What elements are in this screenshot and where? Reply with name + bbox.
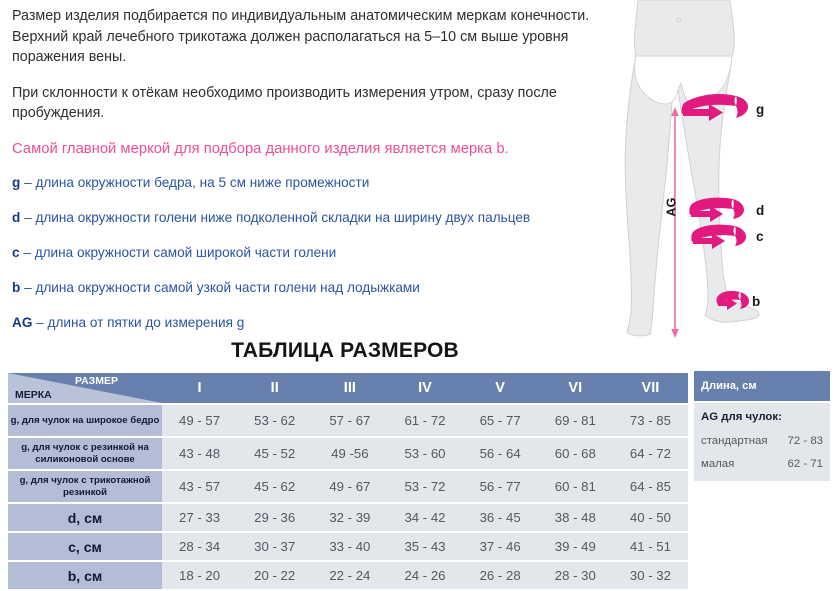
cell-r4-c2: 33 - 40 [312,533,387,560]
highlight-note: Самой главной меркой для подбора данного… [12,139,608,160]
definition-key-ag: AG [12,315,32,330]
cell-r5-c3: 24 - 26 [387,562,462,589]
cell-r4-c6: 41 - 51 [613,533,688,560]
figure-label-b: b [752,294,760,309]
cell-r5-c1: 20 - 22 [237,562,312,589]
row-label-c: c, см [8,533,162,560]
column-header-3: III [312,373,387,403]
column-header-5: V [463,373,538,403]
cell-r4-c5: 39 - 49 [538,533,613,560]
column-header-1: I [162,373,237,403]
cell-r1-c2: 49 -56 [312,438,387,469]
intro-paragraph-1: Размер изделия подбирается по индивидуал… [12,6,608,68]
definition-text-ag: длина от пятки до измерения g [48,315,245,330]
cell-r0-c2: 57 - 67 [312,405,387,436]
definition-item-d: d – длина окружности голени ниже подколе… [12,209,608,227]
definition-dash-ag: – [32,315,47,330]
cell-r2-c5: 60 - 81 [538,471,613,502]
definition-dash-b: – [20,280,35,295]
cell-r5-c6: 30 - 32 [613,562,688,589]
length-row-small: малая 62 - 71 [701,458,823,470]
ag-measure-arrow [671,107,679,338]
intro-paragraph-2: При склонности к отёкам необходимо произ… [12,83,608,124]
measurement-definitions-list: g – длина окружности бедра, на 5 см ниже… [12,174,608,332]
definition-item-c: c – длина окружности самой широкой части… [12,244,608,262]
cell-r1-c4: 56 - 64 [463,438,538,469]
cell-r1-c3: 53 - 60 [387,438,462,469]
body-silhouette [625,0,759,336]
length-row-standard: стандартная 72 - 83 [701,435,823,447]
length-row-small-value: 62 - 71 [788,458,823,470]
table-title: ТАБЛИЦА РАЗМЕРОВ [0,339,690,363]
size-table-head: РАЗМЕР МЕРКА I II III IV V VI VII [8,373,688,403]
table-row: g, для чулок с резинкой на силиконовой о… [8,438,688,469]
definition-text-d: длина окружности голени ниже подколенной… [35,210,530,225]
cell-r4-c4: 37 - 46 [463,533,538,560]
cell-r3-c1: 29 - 36 [237,504,312,531]
cell-r2-c6: 64 - 85 [613,471,688,502]
length-panel-title: AG для чулок: [701,411,823,423]
size-table: РАЗМЕР МЕРКА I II III IV V VI VII g, для… [8,371,688,591]
figure-label-ag: AG [665,197,679,216]
definition-item-ag: AG – длина от пятки до измерения g [12,314,608,332]
definition-text-b: длина окружности самой узкой части голен… [35,280,419,295]
table-row: b, см 18 - 20 20 - 22 22 - 24 24 - 26 26… [8,562,688,589]
table-corner-cell: РАЗМЕР МЕРКА [8,373,162,403]
row-label-b: b, см [8,562,162,589]
definition-text-c: длина окружности самой широкой части гол… [35,245,337,260]
column-header-2: II [237,373,312,403]
table-row: d, см 27 - 33 29 - 36 32 - 39 34 - 42 36… [8,504,688,531]
length-panel-body: AG для чулок: стандартная 72 - 83 малая … [694,403,830,481]
definition-key-c: c [12,245,20,260]
cell-r5-c0: 18 - 20 [162,562,237,589]
leg-measurement-diagram: g d c b AG [604,0,836,345]
cell-r4-c0: 28 - 34 [162,533,237,560]
table-row: c, см 28 - 34 30 - 37 33 - 40 35 - 43 37… [8,533,688,560]
cell-r3-c6: 40 - 50 [613,504,688,531]
figure-label-g: g [756,102,764,117]
cell-r5-c4: 26 - 28 [463,562,538,589]
definition-dash-g: – [20,175,35,190]
cell-r3-c2: 32 - 39 [312,504,387,531]
size-table-body: g, для чулок на широкое бедро 49 - 57 53… [8,405,688,589]
row-label-d: d, см [8,504,162,531]
table-row: g, для чулок с трикотажной резинкой 43 -… [8,471,688,502]
figure-label-c: c [756,229,764,244]
cell-r0-c5: 69 - 81 [538,405,613,436]
definition-item-g: g – длина окружности бедра, на 5 см ниже… [12,174,608,192]
cell-r3-c4: 36 - 45 [463,504,538,531]
column-header-6: VI [538,373,613,403]
cell-r0-c6: 73 - 85 [613,405,688,436]
instructions-panel: Размер изделия подбирается по индивидуал… [12,6,608,349]
cell-r2-c4: 56 - 77 [463,471,538,502]
cell-r1-c5: 60 - 68 [538,438,613,469]
cell-r4-c1: 30 - 37 [237,533,312,560]
cell-r0-c1: 53 - 62 [237,405,312,436]
cell-r2-c3: 53 - 72 [387,471,462,502]
cell-r2-c1: 45 - 62 [237,471,312,502]
column-header-7: VII [613,373,688,403]
length-panel-header: Длина, см [694,371,830,401]
torso-shape [634,0,734,56]
definition-text-g: длина окружности бедра, на 5 см ниже про… [35,175,369,190]
cell-r1-c0: 43 - 48 [162,438,237,469]
cell-r5-c2: 22 - 24 [312,562,387,589]
cell-r3-c3: 34 - 42 [387,504,462,531]
row-label-g-knit-band: g, для чулок с трикотажной резинкой [8,471,162,502]
column-header-4: IV [387,373,462,403]
definition-item-b: b – длина окружности самой узкой части г… [12,279,608,297]
length-row-standard-value: 72 - 83 [788,435,823,447]
cell-r0-c3: 61 - 72 [387,405,462,436]
cell-r1-c6: 64 - 72 [613,438,688,469]
length-row-standard-name: стандартная [701,435,768,447]
row-label-g-silicone-band: g, для чулок с резинкой на силиконовой о… [8,438,162,469]
cell-r1-c1: 45 - 52 [237,438,312,469]
cell-r3-c0: 27 - 33 [162,504,237,531]
corner-row-axis-label: МЕРКА [15,389,52,401]
length-row-small-name: малая [701,458,734,470]
cell-r3-c5: 38 - 48 [538,504,613,531]
cell-r0-c4: 65 - 77 [463,405,538,436]
row-label-g-wide-hip: g, для чулок на широкое бедро [8,405,162,436]
corner-column-axis-label: РАЗМЕР [75,375,118,387]
cell-r5-c5: 28 - 30 [538,562,613,589]
size-table-header-row: РАЗМЕР МЕРКА I II III IV V VI VII [8,373,688,403]
cell-r2-c2: 49 - 67 [312,471,387,502]
cell-r2-c0: 43 - 57 [162,471,237,502]
cell-r4-c3: 35 - 43 [387,533,462,560]
length-panel: Длина, см AG для чулок: стандартная 72 -… [694,371,830,481]
leg-silhouette-svg [604,0,836,345]
definition-dash-c: – [20,245,35,260]
definition-dash-d: – [20,210,35,225]
figure-label-d: d [756,203,764,218]
table-row: g, для чулок на широкое бедро 49 - 57 53… [8,405,688,436]
cell-r0-c0: 49 - 57 [162,405,237,436]
